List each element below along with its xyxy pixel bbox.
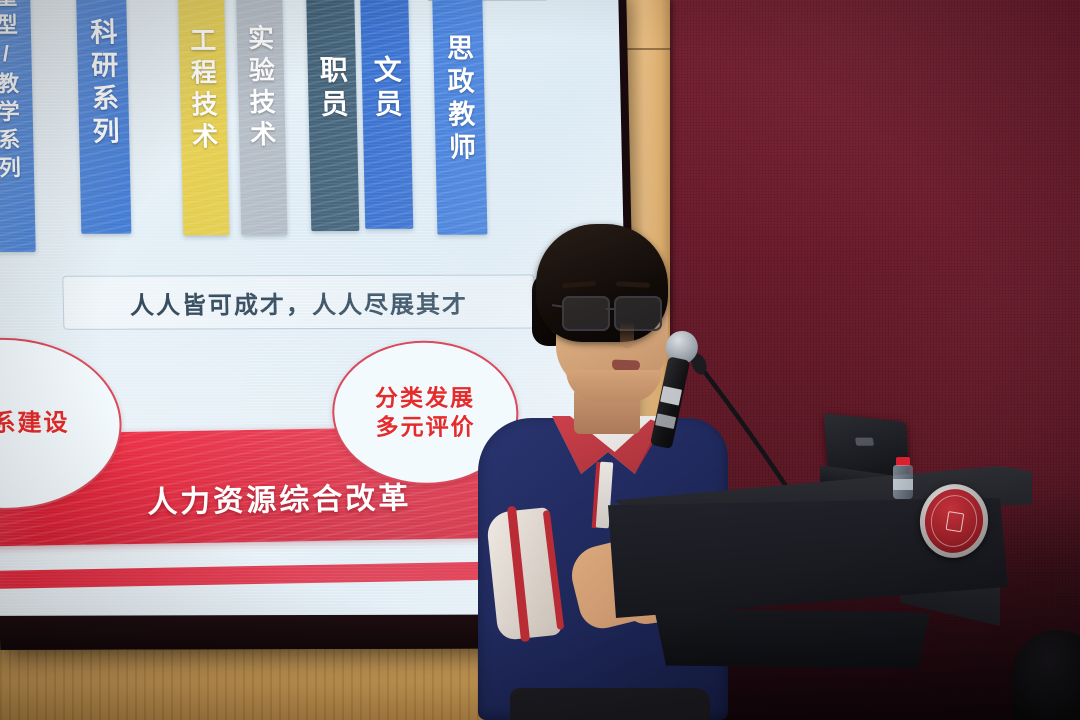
water-bottle	[892, 457, 914, 499]
podium	[608, 432, 1080, 720]
speaker-chin	[566, 370, 662, 402]
glasses-bridge	[606, 308, 616, 310]
slide-column-zhongxing-jiaoxue: 重型/教学系列	[0, 0, 36, 252]
slide-motto-text: 人人皆可成才，人人尽展其才	[129, 284, 468, 320]
oval-right-line1: 分类发展	[375, 384, 476, 413]
slide-column-sizhengjiaoshi: 思政教师	[432, 0, 488, 235]
glasses-lens-left	[562, 296, 610, 331]
slide-column-wenyuan: 文员	[359, 0, 413, 229]
column-label: 工程技术	[183, 26, 223, 154]
column-label: 实验技术	[241, 24, 281, 152]
oval-right-line2: 多元评价	[375, 413, 476, 442]
column-label: 科研系列	[82, 18, 124, 150]
slide-red-band-text: 人力资源综合改革	[146, 473, 412, 521]
slide-column-gongchengjishu: 工程技术	[177, 0, 229, 235]
glasses-icon	[558, 296, 670, 330]
presentation-photo-scene: 思政队伍 常规体系 重型/教学系列 科研系列 工程技术	[0, 0, 1080, 720]
bottle-label	[893, 479, 913, 490]
column-label: 思政教师	[439, 34, 481, 166]
emblem-core	[946, 511, 965, 532]
column-label: 重型/教学系列	[0, 0, 24, 183]
university-seal-emblem-icon	[915, 479, 994, 563]
slide-column-zhiyuan: 职员	[305, 0, 359, 231]
podium-base	[642, 608, 942, 668]
slide-column-keyanxilie: 科研系列	[75, 0, 132, 234]
oval-left-line1: 聘体系建设	[0, 409, 70, 439]
slide-column-shiyanjishu: 实验技术	[235, 0, 287, 235]
column-label: 文员	[366, 55, 407, 123]
speaker-nose	[620, 322, 634, 348]
slide-motto-box: 人人皆可成才，人人尽展其才	[62, 275, 535, 330]
column-label: 职员	[311, 55, 352, 123]
